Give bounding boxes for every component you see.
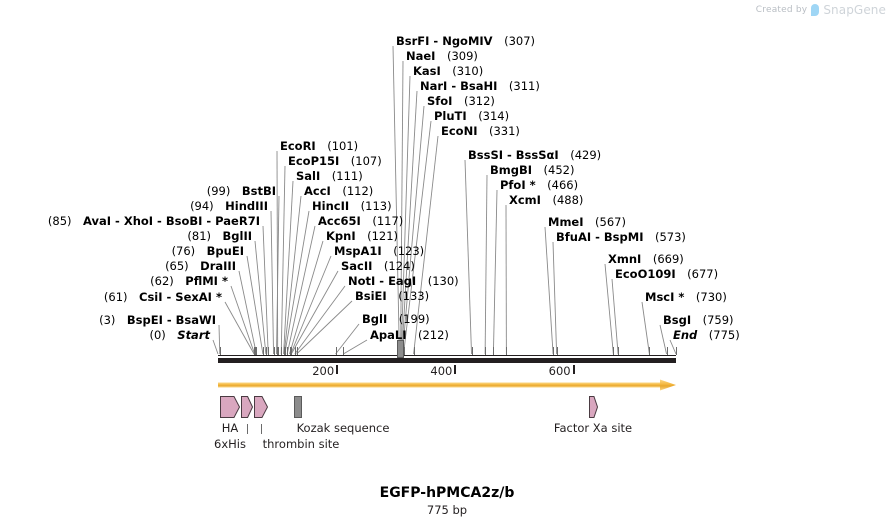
enzyme-leader-line [225, 302, 254, 354]
enzyme-position: (573) [655, 230, 686, 244]
enzyme-position: (112) [342, 184, 373, 198]
cut-site-tick [414, 347, 415, 355]
enzyme-label[interactable]: MmeI (567) [548, 216, 626, 228]
feature-connector-tick [261, 424, 262, 434]
enzyme-leader-line [247, 256, 263, 354]
enzyme-name: PluTI [434, 109, 467, 123]
enzyme-label[interactable]: SfoI (312) [427, 95, 495, 107]
enzyme-leader-line [642, 302, 649, 354]
enzyme-position: (85) [48, 214, 72, 228]
enzyme-label[interactable]: (76) BpuEI [0, 245, 244, 257]
enzyme-star-icon: * [218, 274, 228, 288]
enzyme-label[interactable]: End (775) [673, 329, 740, 341]
enzyme-position: (730) [696, 290, 727, 304]
enzyme-name: BglI [362, 312, 387, 326]
enzyme-position: (81) [187, 229, 211, 243]
enzyme-leader-line [401, 61, 403, 354]
snapgene-logo-icon [811, 4, 819, 16]
enzyme-leader-line [393, 46, 399, 354]
enzyme-name: HindIII [225, 199, 268, 213]
enzyme-leader-line [485, 175, 487, 354]
cut-site-tick [676, 347, 677, 355]
enzyme-name: Acc65I [318, 214, 361, 228]
enzyme-name: EcoRI [280, 139, 316, 153]
feature-arrow[interactable] [589, 396, 598, 418]
enzyme-leader-line [284, 181, 293, 354]
cut-site-tick [274, 347, 275, 355]
enzyme-name: PfoI [500, 178, 526, 192]
feature-arrow[interactable] [254, 396, 268, 418]
cut-site-tick [281, 347, 282, 355]
enzyme-leader-line [545, 227, 553, 354]
enzyme-name: MscI [645, 290, 674, 304]
enzyme-label[interactable]: (85) AvaI - XhoI - BsoBI - PaeR7I [0, 215, 260, 227]
cut-site-tick [256, 347, 257, 355]
enzyme-position: (567) [595, 215, 626, 229]
cut-site-tick [297, 347, 298, 355]
enzyme-position: (466) [547, 178, 578, 192]
enzyme-position: (117) [372, 214, 403, 228]
ruler-tick-label-400: 400 [430, 364, 454, 378]
kozak-backbone-marker [397, 340, 404, 358]
enzyme-leader-line [263, 226, 268, 354]
ruler-tick-label-200: 200 [312, 364, 336, 378]
enzyme-name: NarI - BsaHI [420, 79, 497, 93]
feature-label: 6xHis [214, 437, 246, 451]
cut-site-tick [336, 347, 337, 355]
enzyme-label[interactable]: (81) BglII [0, 230, 252, 242]
enzyme-label[interactable]: EcoP15I (107) [288, 155, 382, 167]
cut-site-tick [263, 347, 264, 355]
enzyme-leader-line [287, 226, 315, 354]
enzyme-name: BstBI [242, 184, 276, 198]
enzyme-position: (94) [190, 199, 214, 213]
cut-site-tick [278, 347, 279, 355]
enzyme-leader-line [255, 241, 266, 354]
enzyme-leader-line [277, 151, 278, 354]
cut-site-tick [291, 347, 292, 355]
enzyme-name: XmnI [608, 252, 641, 266]
enzyme-leader-line [465, 160, 472, 354]
feature-arrow-icon [254, 396, 268, 418]
snapgene-watermark: Created by SnapGene [756, 3, 886, 17]
enzyme-leader-line [295, 286, 345, 354]
cut-site-tick [266, 347, 267, 355]
enzyme-name: BpuEI [207, 244, 244, 258]
enzyme-label[interactable]: NotI - EagI (130) [348, 275, 459, 287]
feature-label: thrombin site [263, 437, 340, 451]
feature-arrow[interactable] [220, 396, 240, 418]
enzyme-leader-line [612, 279, 618, 354]
cut-site-tick [485, 347, 486, 355]
feature-arrow-icon [589, 396, 598, 418]
enzyme-leader-line [285, 211, 309, 354]
cut-site-tick [618, 347, 619, 355]
cut-site-tick [506, 347, 507, 355]
enzyme-name: CsiI - SexAI [139, 290, 212, 304]
enzyme-label[interactable]: XmnI (669) [608, 253, 684, 265]
enzyme-name: BsgI [663, 313, 691, 327]
ruler-tick-200 [336, 365, 338, 374]
enzyme-label[interactable]: NaeI (309) [406, 50, 478, 62]
enzyme-name: BfuAI - BspMI [556, 230, 643, 244]
enzyme-star-icon: * [674, 290, 684, 304]
enzyme-label[interactable]: AccI (112) [304, 185, 373, 197]
enzyme-label[interactable]: EcoNI (331) [441, 125, 520, 137]
enzyme-name: EcoNI [441, 124, 477, 138]
cut-site-tick [287, 347, 288, 355]
enzyme-leader-line [605, 264, 613, 354]
enzyme-label[interactable]: (0) Start [0, 329, 210, 341]
cut-site-tick [667, 347, 668, 355]
enzyme-label[interactable]: BmgBI (452) [490, 164, 574, 176]
enzyme-label[interactable]: KasI (310) [413, 65, 483, 77]
enzyme-leader-line [284, 196, 301, 354]
enzyme-position: (309) [447, 49, 478, 63]
enzyme-label[interactable]: BsgI (759) [663, 314, 734, 326]
cut-site-tick [220, 347, 221, 355]
enzyme-name: SacII [341, 259, 372, 273]
enzyme-name: KpnI [326, 229, 356, 243]
enzyme-label[interactable]: BfuAI - BspMI (573) [556, 231, 686, 243]
enzyme-position: (0) [149, 328, 165, 342]
feature-arrow[interactable] [241, 396, 253, 418]
enzyme-name: AvaI - XhoI - BsoBI - PaeR7I [83, 214, 260, 228]
feature-label: HA [222, 421, 239, 435]
ruler-baseline [218, 355, 676, 356]
enzyme-label[interactable]: EcoO109I (677) [615, 268, 718, 280]
enzyme-label[interactable]: SacII (124) [341, 260, 415, 272]
enzyme-name: EcoO109I [615, 267, 676, 281]
cut-site-tick [343, 347, 344, 355]
cut-site-tick [649, 347, 650, 355]
enzyme-position: (3) [99, 313, 115, 327]
enzyme-position: (124) [384, 259, 415, 273]
enzyme-name: HincII [312, 199, 349, 213]
sequence-backbone [218, 358, 676, 363]
enzyme-position: (62) [150, 274, 174, 288]
enzyme-leader-line [213, 340, 218, 354]
enzyme-label[interactable]: (94) HindIII [0, 200, 268, 212]
enzyme-label[interactable]: Acc65I (117) [318, 215, 403, 227]
enzyme-position: (111) [332, 169, 363, 183]
enzyme-name: BmgBI [490, 163, 532, 177]
enzyme-position: (101) [327, 139, 358, 153]
sequence-length: 775 bp [0, 503, 894, 517]
enzyme-position: (61) [104, 290, 128, 304]
enzyme-label[interactable]: KpnI (121) [326, 230, 398, 242]
cut-site-tick [613, 347, 614, 355]
enzyme-position: (775) [709, 328, 740, 342]
enzyme-position: (311) [509, 79, 540, 93]
enzyme-label[interactable]: MspA1I (123) [334, 245, 424, 257]
enzyme-star-icon: * [526, 178, 536, 192]
enzyme-label[interactable]: SalI (111) [296, 170, 363, 182]
enzyme-name: NaeI [406, 49, 435, 63]
enzyme-position: (130) [428, 274, 459, 288]
enzyme-position: (212) [418, 328, 449, 342]
enzyme-label[interactable]: (99) BstBI [0, 185, 276, 197]
enzyme-position: (429) [570, 148, 601, 162]
enzyme-label[interactable]: (62) PflMI * [0, 275, 228, 287]
cut-site-tick [285, 347, 286, 355]
enzyme-name: BglII [223, 229, 253, 243]
enzyme-name: SalI [296, 169, 320, 183]
enzyme-leader-line [343, 340, 367, 354]
enzyme-label[interactable]: (61) CsiI - SexAI * [0, 291, 222, 303]
enzyme-position: (123) [393, 244, 424, 258]
enzyme-position: (759) [703, 313, 734, 327]
enzyme-name: DraIII [200, 259, 236, 273]
enzyme-position: (669) [653, 252, 684, 266]
enzyme-label[interactable]: HincII (113) [312, 200, 392, 212]
enzyme-label[interactable]: PfoI * (466) [500, 179, 578, 191]
feature-arrow-icon [220, 396, 240, 418]
enzyme-name: MmeI [548, 215, 584, 229]
enzyme-position: (331) [489, 124, 520, 138]
watermark-created-by: Created by [756, 5, 808, 15]
enzyme-leader-line [231, 286, 255, 354]
enzyme-label[interactable]: EcoRI (101) [280, 140, 358, 152]
enzyme-label[interactable]: (3) BspEI - BsaWI [0, 314, 216, 326]
enzyme-star-icon: * [212, 290, 222, 304]
cut-site-tick [472, 347, 473, 355]
cut-site-tick [557, 347, 558, 355]
enzyme-label[interactable]: (65) DraIII [0, 260, 236, 272]
enzyme-name: BsiEI [355, 289, 387, 303]
enzyme-position: (199) [399, 312, 430, 326]
enzyme-name: Start [177, 328, 210, 342]
feature-box[interactable] [294, 396, 302, 418]
enzyme-leader-line [291, 271, 338, 354]
enzyme-name: MspA1I [334, 244, 382, 258]
enzyme-label[interactable]: PluTI (314) [434, 110, 509, 122]
enzyme-leader-line [281, 166, 285, 354]
enzyme-position: (133) [398, 289, 429, 303]
enzyme-position: (76) [172, 244, 196, 258]
enzyme-leader-line [553, 242, 557, 354]
feature-label: Factor Xa site [554, 421, 632, 435]
enzyme-position: (107) [351, 154, 382, 168]
watermark-brand: SnapGene [823, 3, 886, 17]
enzyme-position: (310) [452, 64, 483, 78]
enzyme-position: (121) [367, 229, 398, 243]
enzyme-leader-line [239, 271, 256, 354]
enzyme-leader-line [290, 241, 323, 354]
enzyme-label[interactable]: BssSI - BssSαI (429) [468, 149, 601, 161]
ruler-tick-600 [573, 365, 575, 374]
enzyme-position: (113) [361, 199, 392, 213]
enzyme-position: (307) [504, 34, 535, 48]
enzyme-label[interactable]: NarI - BsaHI (311) [420, 80, 540, 92]
cut-site-tick [493, 347, 494, 355]
enzyme-label[interactable]: BsrFI - NgoMIV (307) [396, 35, 535, 47]
enzyme-name: NotI - EagI [348, 274, 416, 288]
enzyme-position: (99) [207, 184, 231, 198]
enzyme-position: (312) [464, 94, 495, 108]
cut-site-tick [553, 347, 554, 355]
enzyme-position: (314) [478, 109, 509, 123]
enzyme-label[interactable]: MscI * (730) [645, 291, 727, 303]
feature-connector-tick [247, 424, 248, 434]
orientation-arrow [218, 379, 676, 391]
enzyme-leader-line [493, 190, 497, 354]
feature-label: Kozak sequence [297, 421, 390, 435]
ruler-tick-label-600: 600 [549, 364, 573, 378]
feature-arrow-icon [241, 396, 253, 418]
enzyme-name: XcmI [509, 193, 541, 207]
enzyme-name: End [673, 328, 697, 342]
cut-site-tick [268, 347, 269, 355]
enzyme-leader-line [271, 211, 274, 354]
enzyme-name: BspEI - BsaWI [127, 313, 216, 327]
enzyme-name: BssSI - BssSαI [468, 148, 559, 162]
enzyme-position: (488) [552, 193, 583, 207]
enzyme-label[interactable]: ApaLI (212) [370, 329, 449, 341]
page-title: EGFP-hPMCA2z/b [0, 485, 894, 501]
enzyme-name: BsrFI - NgoMIV [396, 34, 493, 48]
enzyme-position: (65) [165, 259, 189, 273]
enzyme-leader-line [277, 196, 279, 354]
enzyme-name: EcoP15I [288, 154, 339, 168]
enzyme-name: SfoI [427, 94, 452, 108]
enzyme-position: (452) [544, 163, 575, 177]
ruler-tick-400 [454, 365, 456, 374]
enzyme-name: AccI [304, 184, 331, 198]
enzyme-label[interactable]: BsiEI (133) [355, 290, 429, 302]
feature-box-icon [294, 396, 302, 418]
enzyme-name: KasI [413, 64, 441, 78]
enzyme-leader-line [291, 256, 331, 354]
enzyme-label[interactable]: BglI (199) [362, 313, 430, 325]
enzyme-leader-line [336, 324, 359, 354]
enzyme-position: (677) [687, 267, 718, 281]
enzyme-label[interactable]: XcmI (488) [509, 194, 583, 206]
enzyme-name: PflMI [185, 274, 218, 288]
